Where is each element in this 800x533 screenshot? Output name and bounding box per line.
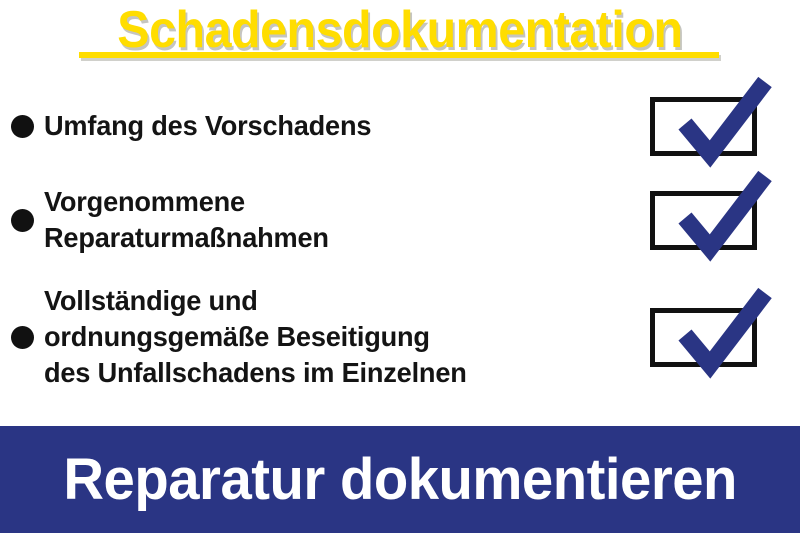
list-item-text-body: Vollständige und ordnungsgemäße Beseitig… (44, 283, 622, 391)
list-item-text-body: Umfang des Vorschadens (44, 108, 622, 144)
checkbox-3[interactable] (650, 308, 757, 367)
footer-banner-text: Reparatur dokumentieren (63, 449, 736, 511)
checkmark-icon (677, 291, 773, 377)
list-item-text-body: Vorgenommene Reparaturmaßnahmen (44, 184, 622, 256)
checkmark-icon (677, 174, 773, 260)
checkbox-cell (650, 97, 800, 156)
text-line: Reparaturmaßnahmen (44, 220, 622, 256)
list-item: Umfang des Vorschadens (0, 84, 800, 168)
list-item-text: Umfang des Vorschadens (44, 108, 650, 144)
checkbox-1[interactable] (650, 97, 757, 156)
list-item-text: Vorgenommene Reparaturmaßnahmen (44, 184, 650, 256)
text-line: ordnungsgemäße Beseitigung (44, 319, 622, 355)
footer-banner: Reparatur dokumentieren (0, 426, 800, 533)
checkbox-cell (650, 191, 800, 250)
filled-circle-icon (11, 209, 34, 232)
page-title: Schadensdokumentation (117, 0, 682, 58)
text-line: Vollständige und (44, 283, 622, 319)
checkmark-icon (677, 80, 773, 166)
list-item: Vorgenommene Reparaturmaßnahmen (0, 168, 800, 272)
filled-circle-icon (11, 326, 34, 349)
checkbox-2[interactable] (650, 191, 757, 250)
slide-root: Schadensdokumentation Umfang des Vorscha… (0, 0, 800, 533)
bullet-marker (0, 115, 44, 138)
checkbox-cell (650, 308, 800, 367)
text-line: des Unfallschadens im Einzelnen (44, 355, 622, 391)
text-line: Vorgenommene (44, 184, 622, 220)
bullet-marker (0, 326, 44, 349)
text-line: Umfang des Vorschadens (44, 108, 622, 144)
bullet-marker (0, 209, 44, 232)
list-item-text: Vollständige und ordnungsgemäße Beseitig… (44, 283, 650, 391)
title-block: Schadensdokumentation (0, 0, 800, 72)
title-underline (79, 52, 719, 58)
checklist: Umfang des Vorschadens Vorgenommene Repa… (0, 84, 800, 402)
list-item: Vollständige und ordnungsgemäße Beseitig… (0, 272, 800, 402)
filled-circle-icon (11, 115, 34, 138)
